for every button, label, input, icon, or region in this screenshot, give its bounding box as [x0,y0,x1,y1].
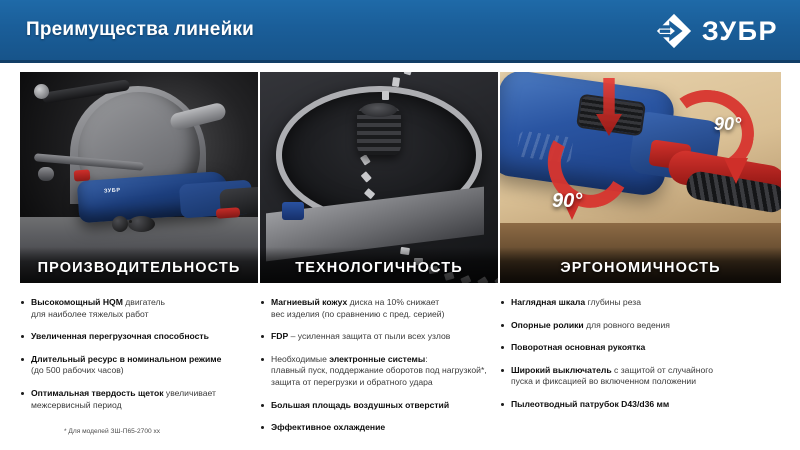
column-performance: ЗУБР ПРОИЗВОДИТЕЛЬНОСТЬ Высокомощный HQM… [20,72,258,422]
bullet-strong: Пылеотводный патрубок D43/d36 мм [511,399,669,409]
bullet-strong: FDP [271,331,288,341]
bullet-pre: Необходимые [271,354,329,364]
bullet-strong: Увеличенная перегрузочная способность [31,331,209,341]
header-bar: Преимущества линейки ЗУБР [0,0,800,63]
photo-ergonomics: 90° 90° ЭРГОНОМИЧНОСТЬ [500,72,781,283]
bullet-strong: Опорные ролики [511,320,584,330]
bullet-list-technology: Магниевый кожух диска на 10% снижает вес… [260,297,498,434]
blade-segment [392,77,400,87]
blade-segment [364,188,375,199]
blade-segment [360,154,371,165]
bullet-item: Эффективное охлаждение [260,422,498,434]
bullet-strong: Наглядная шкала [511,297,585,307]
bullet-rest: – усиленная защита от пыли всех узлов [288,331,450,341]
bullet-rest: : [425,354,427,364]
bullet-item: Магниевый кожух диска на 10% снижает вес… [260,297,498,320]
bullet-line2: плавный пуск, поддержание оборотов под н… [271,365,487,375]
bullet-rest: с защитой от случайного [612,365,713,375]
page-title: Преимущества линейки [26,19,254,41]
slide: Преимущества линейки ЗУБР [0,0,800,450]
bullet-rest: двигатель [123,297,165,307]
angle-label-left: 90° [552,190,582,213]
caption-performance: ПРОИЗВОДИТЕЛЬНОСТЬ [20,260,258,276]
bullet-rest: диска на 10% снижает [347,297,439,307]
brand-logo: ЗУБР [655,12,778,50]
caption-technology: ТЕХНОЛОГИЧНОСТЬ [260,260,498,276]
bullet-item: Большая площадь воздушных отверстий [260,400,498,412]
bullet-strong: Магниевый кожух [271,297,347,307]
bullet-item: Пылеотводный патрубок D43/d36 мм [500,399,781,411]
bullet-item: Оптимальная твердость щеток увеличивает … [20,388,258,411]
bullet-rest: увеличивает [164,388,216,398]
bullet-item: Опорные ролики для ровного ведения [500,320,781,332]
column-ergonomics: 90° 90° ЭРГОНОМИЧНОСТЬ Наглядная шкала г… [500,72,781,422]
bullet-strong: Высокомощный HQM [31,297,123,307]
caption-ergonomics: ЭРГОНОМИЧНОСТЬ [500,260,781,276]
bullet-item: Длительный ресурс в номинальном режиме (… [20,354,258,377]
bullet-strong: Оптимальная твердость щеток [31,388,164,398]
bullet-item: Широкий выключатель с защитой от случайн… [500,365,781,388]
blade-segment [404,72,413,75]
bullet-rest: глубины реза [585,297,641,307]
bullet-strong: Эффективное охлаждение [271,422,385,432]
blade-segment [382,91,389,100]
bullet-list-performance: Высокомощный HQM двигатель для наиболее … [20,297,258,411]
photo-angle-grinder: ЗУБР ПРОИЗВОДИТЕЛЬНОСТЬ [20,72,258,283]
bullet-rest: для ровного ведения [584,320,670,330]
bullet-item: Поворотная основная рукоятка [500,342,781,354]
column-technology: ТЕХНОЛОГИЧНОСТЬ Магниевый кожух диска на… [260,72,498,445]
columns-container: ЗУБР ПРОИЗВОДИТЕЛЬНОСТЬ Высокомощный HQM… [0,72,800,442]
bullet-strong: Длительный ресурс в номинальном режиме [31,354,221,364]
bullet-line2: вес изделия (по сравнению с пред. серией… [271,309,444,319]
bullet-strong: электронные системы [329,354,425,364]
bullet-item: FDP – усиленная защита от пыли всех узло… [260,331,498,343]
zubr-diamond-arrow-icon [655,12,693,50]
bullet-strong: Широкий выключатель [511,365,612,375]
bullet-item: Увеличенная перегрузочная способность [20,331,258,343]
footnote: * Для моделей ЗШ-П65-2700 хх [64,428,160,435]
angle-label-right: 90° [714,114,741,135]
photo-diamond-disc: ТЕХНОЛОГИЧНОСТЬ [260,72,498,283]
bullet-line2: (до 500 рабочих часов) [31,365,124,375]
bullet-line2: межсервисный период [31,400,122,410]
bullet-strong: Большая площадь воздушных отверстий [271,400,449,410]
blade-segment [361,171,372,182]
bullet-line2: для наиболее тяжелых работ [31,309,149,319]
brand-name: ЗУБР [702,12,778,50]
bullet-line2: пуска и фиксацией во включенном положени… [511,376,696,386]
bullet-line3: защита от перегрузки и обратного удара [271,377,433,387]
bullet-strong: Поворотная основная рукоятка [511,342,645,352]
bullet-list-ergonomics: Наглядная шкала глубины реза Опорные рол… [500,297,781,411]
bullet-item: Наглядная шкала глубины реза [500,297,781,309]
bullet-item: Высокомощный HQM двигатель для наиболее … [20,297,258,320]
bullet-item: Необходимые электронные системы: плавный… [260,354,498,389]
